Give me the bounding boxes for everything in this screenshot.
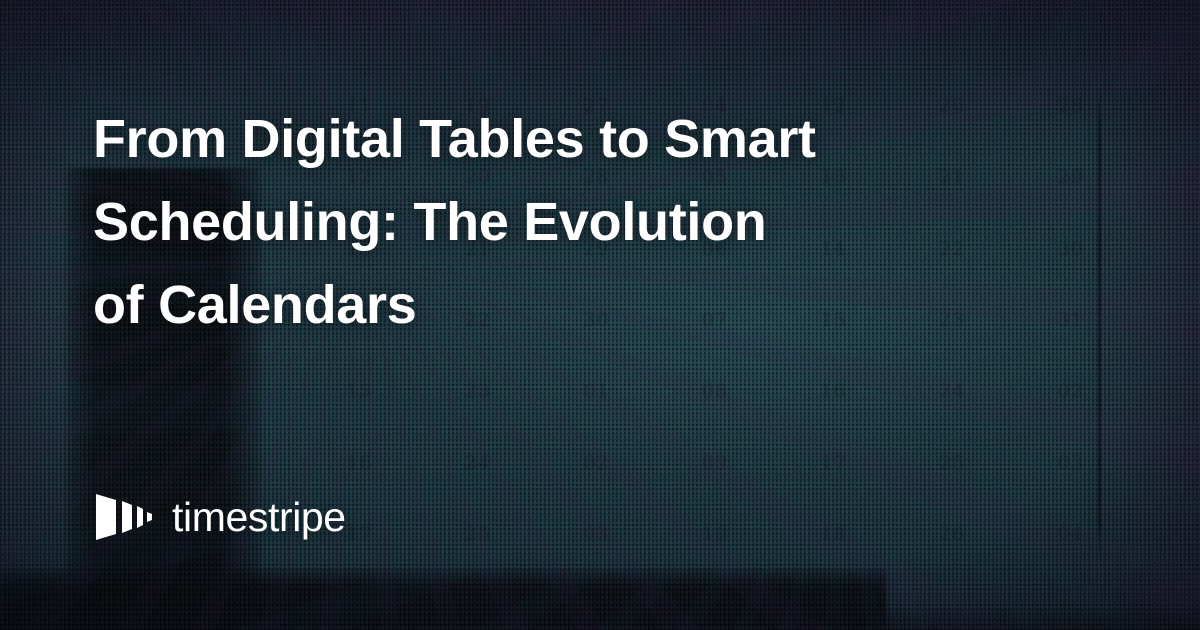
brand-logo[interactable]: timestripe bbox=[96, 492, 346, 542]
card-content: From Digital Tables to Smart Scheduling:… bbox=[0, 0, 1200, 630]
brand-wordmark: timestripe bbox=[172, 497, 346, 538]
page-title: From Digital Tables to Smart Scheduling:… bbox=[93, 98, 933, 347]
timestripe-stripe-mark-icon bbox=[96, 492, 154, 542]
social-share-card: 1119270412202812202805132129132129061422… bbox=[0, 0, 1200, 630]
